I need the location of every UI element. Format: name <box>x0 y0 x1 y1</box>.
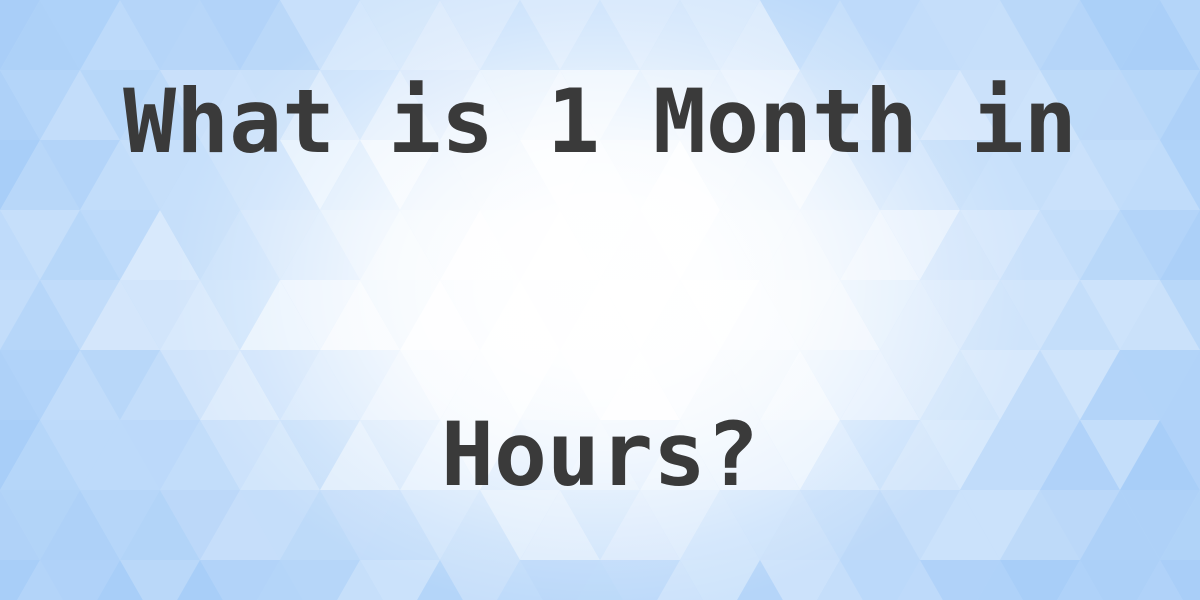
low-poly-background <box>0 0 1200 600</box>
poster-canvas: What is 1 Month in Hours? <box>0 0 1200 600</box>
